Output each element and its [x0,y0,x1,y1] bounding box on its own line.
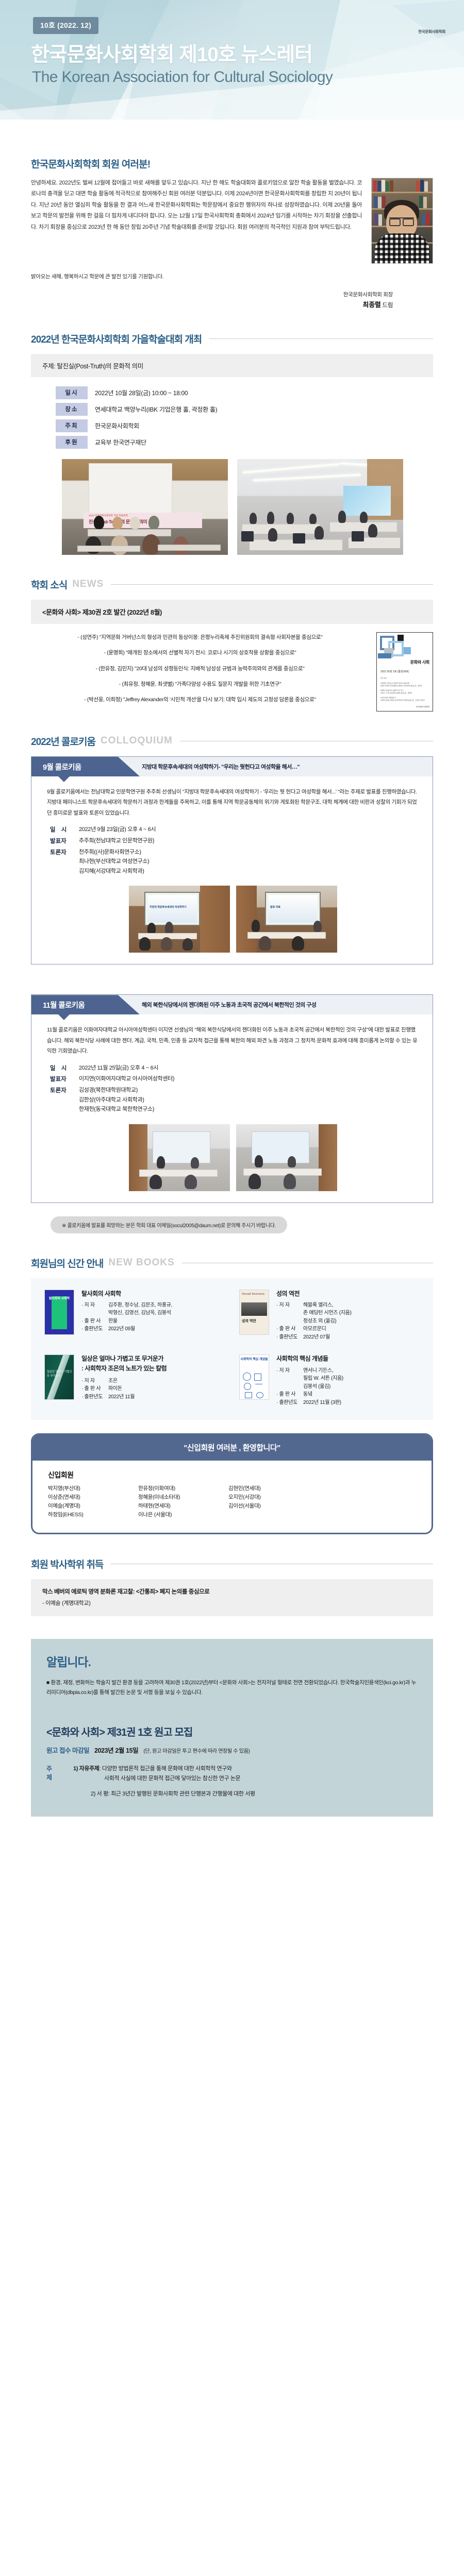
book-title: 탈사회의 사회학 [81,1290,225,1298]
book-cover: 탈사회의 사회학 [44,1290,74,1335]
list-item: - (최유정, 정혜윤, 최샛별) "가족다양성 수용도 질문지 개발을 위한 … [31,680,369,689]
new-members-title: "신입회원 여러분 , 환영합니다" [32,1435,432,1461]
news-heading-ko: 학회 소식 [31,578,67,591]
logo-caption: 한국문화사회학회 [418,29,445,35]
book-publisher: 파이돈 [108,1385,225,1393]
conference-photos: 2022 한국문화사회학회 가을 학술대회진실(Post-Truth)의 문화적… [62,459,433,555]
conference-photo-panel: 2022 한국문화사회학회 가을 학술대회진실(Post-Truth)의 문화적… [62,459,228,555]
colloquium-card-header: 9월 콜로키움 지방대 학문후속세대의 여성학하기- "우리는 뭣헌다고 여성학… [31,757,433,776]
colloquium-description: 11월 콜로키움은 이화여자대학교 아시아여성학센터 이지연 선생님의 "해외 … [47,1025,419,1056]
journal-cover-title: 문화와 사회 [410,659,429,665]
member-name: 정혜윤(미네소타대) [138,1493,228,1502]
book-cover-text: 일상은 얼마나 가볍고 또 무거운가 [47,1370,74,1378]
detail-value: 교육부 한국연구재단 [95,438,146,447]
list-item: - (한유정, 김민지) "20대 남성의 성평등인식: 지배적 남성성 규범과… [31,665,369,673]
book-author-label: · 저 자 [276,1367,303,1391]
book-cover-text-ko: 성의 역전 [242,1318,256,1324]
notice-paragraph: ■ 환경, 재정, 변화하는 학술지 발간 환경 등을 고려하여 제30권 1호… [46,1678,418,1698]
discussant: 김성경(북한대학원대학교) [79,1086,154,1095]
colloquium-heading-ko: 2022년 콜로키움 [31,734,95,748]
member-name: 이나은 (서울대) [138,1511,228,1519]
journal-toc-line: 매개된 장소에서의 선별적 자기 전시 [380,689,429,692]
greeting-body: 안녕하세요. 2022년도 벌써 12월에 접어들고 바로 새해를 앞두고 있습… [31,178,362,233]
field-label: 발표자 [50,837,79,846]
field-label: 토론자 [50,1086,79,1115]
detail-row: 일시 2022년 10월 28일(금) 10:00 ~ 18:00 [56,386,433,399]
heading-rule [110,1564,433,1564]
detail-row: 주최 한국문화사회학회 [56,419,433,432]
colloquium-heading-en: COLLOQUIUM [101,735,173,747]
colloquium-date: 일 시 2022년 11월 25일(금) 오후 4 ~ 6시 [50,1064,419,1073]
cfp-deadline-label: 원고 접수 마감일 [46,1745,89,1755]
book-publisher-label: · 출 판 사 [276,1391,303,1399]
list-item: - (박선웅, 이희정) "Jeffrey Alexander의 '시민적 개선… [31,696,369,704]
conference-heading-text: 2022년 한국문화사회학회 가을학술대회 개최 [31,332,202,346]
phd-section: 회원 박사학위 취득 막스 베버의 에로틱 영역 분화론 재고찰: <간통죄> … [0,1557,464,1616]
notice-heading: 알립니다. [46,1652,418,1670]
heading-rule [180,741,433,741]
president-photo [371,178,433,264]
new-books-section: 회원님의 신간 안내 NEW BOOKS 탈사회의 사회학 탈사회의 사회학 ·… [0,1256,464,1420]
colloquium-presenter: 발표자 이지연(이화여자대학교 아시아여성학센터) [50,1075,419,1084]
book-author: 앤서니 기든스, [303,1367,420,1375]
colloquium-title: 해외 북한식당에서의 젠더화된 이주 노동과 초국적 공간에서 북한적인 것의 … [142,1001,426,1009]
journal-toc-line: 코로나 시기의 상호작용 상황을 중심으로 · 윤명희 [380,692,429,694]
page-title: 한국문화사회학회 제10호 뉴스레터 [31,39,312,67]
colloquium-photos [47,1124,419,1191]
discussant: 김한상(아주대학교 사회학과) [79,1096,154,1105]
members-column: 박지영(부산대) 이상준(연세대) 이예슬(계명대) 하정임(EHESS) [48,1484,138,1519]
field-value: 2022년 9월 23일(금) 오후 4 ~ 6시 [79,825,156,835]
journal-toc-line: 은평누리축제 추진위원회의 결속형 사회자본을 중심으로 · 성연주 [380,685,429,687]
conference-details: 일시 2022년 10월 28일(금) 10:00 ~ 18:00 장소 연세대… [56,386,433,449]
list-item: - (윤명희) "매개된 장소에서의 선별적 자기 전시: 코로나 시기의 상호… [31,649,369,657]
heading-rule [182,1263,433,1263]
detail-key: 일시 [56,386,88,399]
colloquium-photo [236,1124,337,1191]
journal-cover-section: 연구 논문 [380,677,429,680]
field-label: 발표자 [50,1075,79,1084]
cfp-subject-label: 주 제 [46,1764,68,1799]
member-name: 박지영(부산대) [48,1484,138,1493]
phd-author: - 이예슬 (계명대학교) [42,1599,422,1607]
detail-row: 후원 교육부 한국연구재단 [56,436,433,449]
book-publisher-label: · 출 판 사 [81,1385,108,1393]
colloquium-discussants: 토론자 천주희((사)문화사회연구소) 최나현(부산대학교 여성연구소) 김지혜… [50,848,419,877]
journal-cover-volume: 2022 30권 2호 (통권39호) [380,670,409,673]
book-cover-text: 사회학의 핵심 개념들 [240,1358,269,1362]
book-cover-text: Sexual Inversion [242,1292,264,1296]
cfp-subject-2: 2) 서 평: 최근 3년간 발행된 문화사회학 관련 단행본과 간행물에 대한… [73,1789,418,1799]
colloquium-tag: 11월 콜로키움 [43,999,85,1010]
colloquium-title: 지방대 학문후속세대의 여성학하기- "우리는 뭣헌다고 여성학을 해서…" [142,762,426,771]
field-value: 2022년 11월 25일(금) 오후 4 ~ 6시 [79,1064,158,1073]
colloquium-heading: 2022년 콜로키움 COLLOQUIUM [31,734,433,748]
colloquium-card-header: 11월 콜로키움 해외 북한식당에서의 젠더화된 이주 노동과 초국적 공간에서… [31,995,433,1014]
phd-heading-text: 회원 박사학위 취득 [31,1557,103,1571]
cfp-subject-1-body: : 다양한 방법론적 접근을 통해 문화에 대한 사회학적 연구와 [100,1766,232,1772]
book-author-cont: 필립 W. 서튼 (지음) [303,1375,420,1383]
list-item: - (성연주) "지역문화 거버넌스의 형성과 민관의 동상이몽: 은평누리축제… [31,633,369,642]
book-cover: 사회학의 핵심 개념들 [239,1354,269,1400]
colloquium-date: 일 시 2022년 9월 23일(금) 오후 4 ~ 6시 [50,825,419,835]
phd-heading: 회원 박사학위 취득 [31,1557,433,1571]
book-publisher: 동녘 [303,1391,420,1399]
book-year: 2022년 09월 [108,1325,225,1333]
book-publisher: 아모르문디 [303,1325,420,1333]
newsletter-page: 10호 (2022. 12) 한국문화사회학회 제10호 뉴스레터 The Ko… [0,0,464,2576]
colloquium-tag: 9월 콜로키움 [43,761,81,772]
book-author: 조은 [108,1377,225,1385]
journal-cover: 문화와 사회 2022 30권 2호 (통권39호) 연구 논문 지역문화 거버… [376,632,433,711]
conference-photo-audience [237,459,403,555]
header-banner: 10호 (2022. 12) 한국문화사회학회 제10호 뉴스레터 The Ko… [0,0,464,140]
book-year: 2022년 11월 [108,1393,225,1401]
member-name: 김현민(연세대) [228,1484,319,1493]
colloquium-description: 9월 콜로키움에서는 전남대학교 인문학연구원 추주희 선생님이 "지방대 학문… [47,787,419,818]
colloquium-card-september: 9월 콜로키움 지방대 학문후속세대의 여성학하기- "우리는 뭣헌다고 여성학… [31,756,433,964]
journal-toc-line: 지역문화 거버넌스의 형성과 민관의 동상이몽 [380,682,429,685]
book-year-label: · 출판년도 [276,1399,303,1407]
colloquium-photo: 발표 자료 [236,886,337,953]
colloquium-card-november: 11월 콜로키움 해외 북한식당에서의 젠더화된 이주 노동과 초국적 공간에서… [31,994,433,1202]
news-section: 학회 소식 NEWS <문화와 사회> 제30권 2호 발간 (2022년 8월… [0,578,464,711]
book-translator: 정성조 외 (옮김) [303,1317,420,1326]
pointer-triangle-icon [58,1014,70,1020]
signature-org: 한국문화사회학회 회장 [31,291,393,298]
discussant: 천주희((사)문화사회연구소) [79,848,149,857]
colloquium-photos: 지방대 학문후속세대의 여성학하기 발표 자료 [47,886,419,953]
field-label: 일 시 [50,825,79,835]
colloquium-discussants: 토론자 김성경(북한대학원대학교) 김한상(아주대학교 사회학과) 한재헌(동국… [50,1086,419,1115]
new-books-heading-en: NEW BOOKS [108,1257,174,1268]
detail-value: 2022년 10월 28일(금) 10:00 ~ 18:00 [95,388,188,397]
book-cover-text: 탈사회의 사회학 [45,1297,74,1301]
conference-heading: 2022년 한국문화사회학회 가을학술대회 개최 [31,332,433,346]
colloquium-section: 2022년 콜로키움 COLLOQUIUM 9월 콜로키움 지방대 학문후속세대… [0,734,464,1233]
book-author-label: · 저 자 [81,1377,108,1385]
book-year: 2022년 11월 (3판) [303,1399,420,1407]
conference-section: 2022년 한국문화사회학회 가을학술대회 개최 주제: 탈진실(Post-Tr… [0,332,464,555]
member-name: 하정임(EHESS) [48,1511,138,1519]
cfp-subject-1-head: 1) 자유주제 [73,1766,100,1772]
colloquium-note: ※ 콜로키움에 발표를 희망하는 분은 학회 대표 이메일(socul2005@… [51,1216,287,1233]
greeting-title: 한국문화사회학회 회원 여러분! [31,157,433,171]
detail-value: 연세대학교 백양누리(IBK 기업은행 홀, 곽정환 홀) [95,405,217,414]
signature-suffix: 드림 [381,302,393,309]
members-column: 김현민(연세대) 오지민(서강대) 김이선(서울대) [228,1484,319,1519]
book-year-label: · 출판년도 [81,1393,108,1401]
book-author-cont: 존 애딩턴 시먼즈 (지음) [303,1309,420,1317]
books-panel: 탈사회의 사회학 탈사회의 사회학 · 저 자 김주환, 정수남, 김문조, 하… [31,1278,433,1420]
discussant: 한재헌(동국대학교 북한학연구소) [79,1105,154,1114]
book-year-label: · 출판년도 [81,1325,108,1333]
greeting-section: 한국문화사회학회 회원 여러분! 안녕하세요. 2022년도 벌써 12월에 접… [0,157,464,309]
journal-toc-line: 지배적 남성성 규범과 능력주의와의 관계를 중심으로 · 한유정, 김민지 [380,699,429,702]
detail-value: 한국문화사회학회 [95,421,139,430]
colloquium-presenter: 발표자 추주희(전남대학교 인문학연구원) [50,837,419,846]
call-for-papers: <문화와 사회> 제31권 1호 원고 모집 원고 접수 마감일 2023년 2… [31,1714,433,1817]
member-name: 이상준(연세대) [48,1493,138,1502]
field-label: 토론자 [50,848,79,877]
detail-key: 장소 [56,403,88,416]
cfp-title: <문화와 사회> 제31권 1호 원고 모집 [46,1724,418,1739]
book-title: 성의 역전 [276,1290,420,1298]
journal-toc-line: 20대 남성의 성평등인식 [380,697,429,699]
page-subtitle: The Korean Association for Cultural Soci… [32,69,333,86]
news-heading-en: NEWS [72,579,104,590]
book-year-label: · 출판년도 [276,1333,303,1342]
signature-name: 최종렬 [363,301,381,309]
cfp-subject-item: 1) 자유주제: 다양한 방법론적 접근을 통해 문화에 대한 사회학적 연구와… [73,1764,418,1783]
member-name: 오지민(서강대) [228,1493,319,1502]
book-cover: 일상은 얼마나 가볍고 또 무거운가 [44,1354,74,1400]
detail-key: 후원 [56,436,88,449]
cfp-deadline-value: 2023년 2월 15일 [94,1745,138,1755]
issue-badge: 10호 (2022. 12) [33,17,98,34]
new-members-card: "신입회원 여러분 , 환영합니다" 신입회원 박지영(부산대) 이상준(연세대… [31,1433,433,1534]
book-publisher: 한울 [108,1317,225,1326]
book-author: 김주환, 정수남, 김문조, 하홍규, [108,1301,225,1310]
news-heading: 학회 소식 NEWS [31,578,433,591]
notice-section: 알립니다. ■ 환경, 재정, 변화하는 학술지 발간 환경 등을 고려하여 제… [31,1639,433,1714]
book-translator: 김봉석 (옮김) [303,1383,420,1391]
book-cover: Sexual Inversion 성의 역전 [239,1290,269,1335]
book-title: 일상은 얼마나 가볍고 또 무거운가 [81,1354,225,1363]
phd-thesis-title: 막스 베버의 에로틱 영역 분화론 재고찰: <간통죄> 폐지 논의를 중심으로 [42,1587,422,1596]
heading-rule [111,584,433,585]
article-list: - (성연주) "지역문화 거버넌스의 형성과 민관의 동상이몽: 은평누리축제… [31,632,369,711]
association-logo [373,7,445,43]
book-subtitle: : 사회학자 조은의 노트가 있는 칼럼 [81,1364,225,1372]
colloquium-photo: 지방대 학문후속세대의 여성학하기 [129,886,230,953]
field-label: 일 시 [50,1064,79,1073]
book-author-label: · 저 자 [81,1301,108,1317]
colloquium-photo [129,1124,230,1191]
book-item: Sexual Inversion 성의 역전 성의 역전 · 저 자 헤블록 엘… [239,1290,420,1342]
journal-issue-bar: <문화와 사회> 제30권 2호 발간 (2022년 8월) [31,600,433,624]
book-item: 일상은 얼마나 가볍고 또 무거운가 일상은 얼마나 가볍고 또 무거운가 : … [44,1354,225,1406]
cfp-deadline-note: (단, 원고 마감일은 투고 편수에 따라 연장될 수 있음) [143,1747,250,1754]
new-members-label: 신입회원 [48,1470,416,1480]
detail-key: 주최 [56,419,88,432]
book-author-cont: 박형신, 김영선, 김남옥, 김봉석 [108,1309,225,1317]
member-name: 이예슬(계명대) [48,1502,138,1511]
book-item: 사회학의 핵심 개념들 사회학의 핵심 개념들 · 저 자 앤서니 기든스, 필… [239,1354,420,1406]
book-title: 사회학의 핵심 개념들 [276,1354,420,1363]
book-author: 헤블록 엘리스, [303,1301,420,1310]
field-value: 이지연(이화여자대학교 아시아여성학센터) [79,1075,174,1084]
members-column: 한유정(이화여대) 정혜윤(미네소타대) 하태현(연세대) 이나은 (서울대) [138,1484,228,1519]
field-value: 추주희(전남대학교 인문학연구원) [79,837,154,846]
book-publisher-label: · 출 판 사 [81,1317,108,1326]
pointer-triangle-icon [58,776,70,782]
cfp-subject-1-body2: 사회적 사실에 대한 문화적 접근에 닿아있는 참신한 연구 논문 [73,1774,418,1784]
new-books-heading: 회원님의 신간 안내 NEW BOOKS [31,1256,433,1270]
member-name: 한유정(이화여대) [138,1484,228,1493]
book-author-label: · 저 자 [276,1301,303,1326]
heading-rule [209,338,433,339]
discussant: 최나현(부산대학교 여성연구소) [79,857,149,867]
new-books-heading-ko: 회원님의 신간 안내 [31,1256,103,1270]
greeting-closing: 밝아오는 새해, 행복하시고 학문에 큰 발전 있기를 기원합니다. [31,272,433,282]
member-name: 하태현(연세대) [138,1502,228,1511]
book-year: 2022년 07월 [303,1333,420,1342]
conference-topic: 주제: 탈진실(Post-Truth)의 문화적 의미 [31,354,433,377]
book-publisher-label: · 출 판 사 [276,1325,303,1333]
signature: 한국문화사회학회 회장 최종렬 드림 [31,291,433,309]
phd-entry: 막스 베버의 에로틱 영역 분화론 재고찰: <간통죄> 폐지 논의를 중심으로… [31,1579,433,1616]
book-item: 탈사회의 사회학 탈사회의 사회학 · 저 자 김주환, 정수남, 김문조, 하… [44,1290,225,1342]
member-name: 김이선(서울대) [228,1502,319,1511]
discussant: 김지혜(서강대학교 사회학과) [79,867,149,876]
journal-cover-publisher: 한국문화사회학회 [416,706,429,708]
detail-row: 장소 연세대학교 백양누리(IBK 기업은행 홀, 곽정환 홀) [56,403,433,416]
